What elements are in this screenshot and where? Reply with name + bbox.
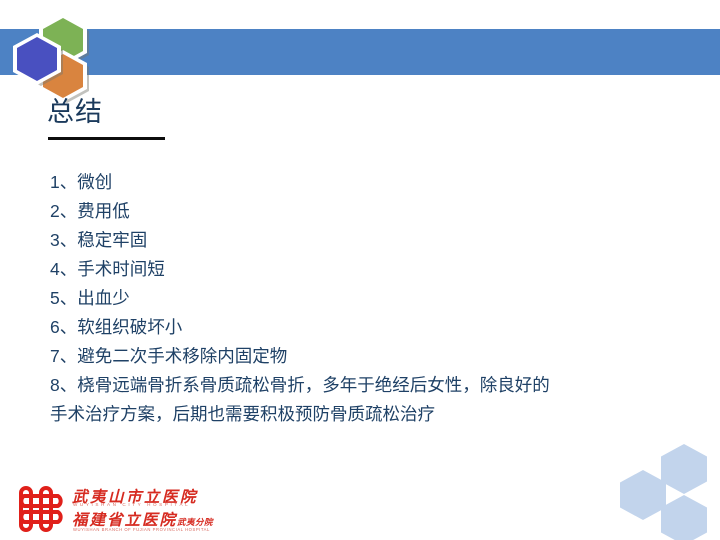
body-line-1: 1、微创 [50,168,610,197]
body-line-6: 6、软组织破坏小 [50,313,610,342]
body-line-2: 2、费用低 [50,197,610,226]
hospital-name-en: WUYISHAN CITY HOSPITAL [73,502,190,507]
body-line-4: 4、手术时间短 [50,255,610,284]
decorative-hexagon-top-icon [661,444,707,494]
body-line-3: 3、稳定牢固 [50,226,610,255]
hospital-logo-text: 武夷山市立医院 WUYISHAN CITY HOSPITAL 福建省立医院武夷分… [72,482,236,536]
header-band [0,29,720,75]
decorative-hexagon-left-icon [620,470,666,520]
presentation-slide: 总结 1、微创 2、费用低 3、稳定牢固 4、手术时间短 5、出血少 6、软组织… [0,0,720,540]
hospital-affiliate-suffix: 武夷分院 [177,517,213,527]
body-line-8: 8、桡骨远端骨折系骨质疏松骨折，多年于绝经后女性，除良好的手术治疗方案，后期也需… [50,371,550,429]
hospital-emblem-icon [10,486,72,532]
hospital-logo: 武夷山市立医院 WUYISHAN CITY HOSPITAL 福建省立医院武夷分… [4,482,236,536]
title-underline-rule [48,137,165,140]
decorative-hexagons [602,440,720,540]
body-line-7: 7、避免二次手术移除内固定物 [50,342,610,371]
hospital-affiliate-en: WUYISHAN BRANCH OF FUJIAN PROVINCIAL HOS… [73,527,210,532]
hexagon-cluster-logo [8,12,98,84]
slide-body: 1、微创 2、费用低 3、稳定牢固 4、手术时间短 5、出血少 6、软组织破坏小… [50,168,610,429]
slide-title: 总结 [47,95,103,129]
decorative-hexagon-bottom-icon [661,495,707,540]
body-line-5: 5、出血少 [50,284,610,313]
